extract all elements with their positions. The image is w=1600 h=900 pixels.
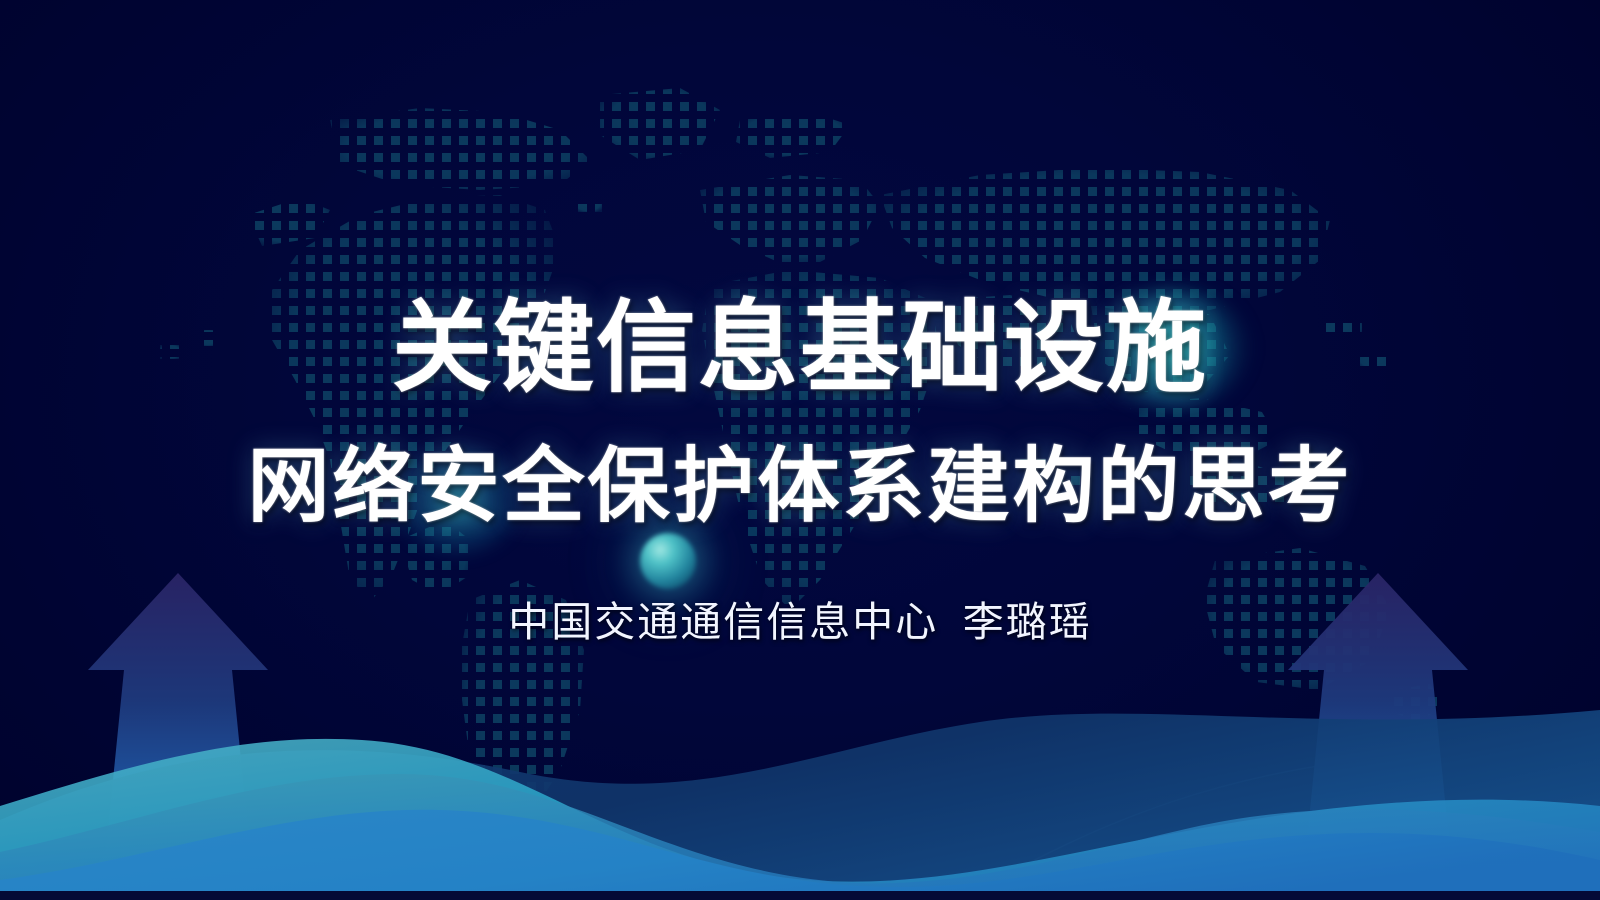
presentation-title-slide: 关键信息基础设施 网络安全保护体系建构的思考 中国交通通信信息中心 李璐瑶: [0, 0, 1600, 900]
bottom-bar: [0, 891, 1600, 900]
page-title-line-2: 网络安全保护体系建构的思考: [0, 440, 1600, 534]
wave-band: [0, 560, 1600, 900]
page-title-line-1: 关键信息基础设施: [0, 292, 1600, 404]
